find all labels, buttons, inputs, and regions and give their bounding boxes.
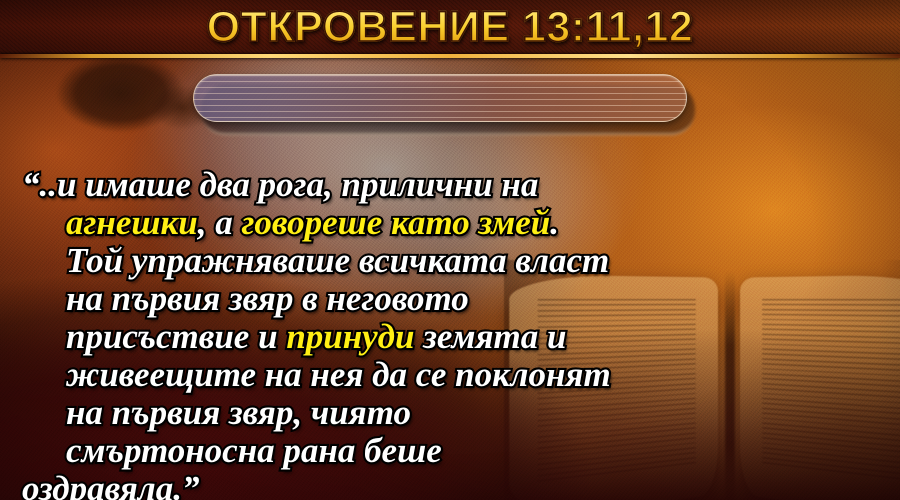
verse-line: смъртоносна рана беше (22, 432, 884, 470)
verse-line: на първия звяр в неговото (22, 280, 884, 318)
decorative-capsule-banner (193, 74, 687, 122)
verse-line: на първия звяр, чиято (22, 394, 884, 432)
verse-text: на първия звяр в неговото (66, 279, 469, 318)
verse-line: живеещите на нея да се поклонят (22, 356, 884, 394)
verse-text: на първия звяр, чиято (66, 393, 411, 432)
verse-highlight-text: принуди (286, 317, 414, 356)
verse-text: оздравяла.” (22, 469, 200, 500)
verse-line: агнешки, а говореше като змей. (22, 204, 884, 242)
title-divider-rule (0, 54, 900, 58)
verse-text: земята и (414, 317, 566, 356)
verse-line: присъствие и принуди земята и (22, 318, 884, 356)
verse-text: присъствие и (66, 317, 286, 356)
verse-text-block: “..и имаше два рога, прилични наагнешки,… (22, 166, 884, 500)
verse-highlight-text: говореше като змей (242, 203, 551, 242)
title-band: ОТКРОВЕНИЕ 13:11,12 (0, 0, 900, 56)
verse-text: смъртоносна рана беше (66, 431, 442, 470)
verse-highlight-text: агнешки (66, 203, 198, 242)
verse-line: “..и имаше два рога, прилични на (22, 166, 884, 204)
verse-text: , а (198, 203, 242, 242)
verse-text: . (550, 203, 559, 242)
verse-text: Той упражняваше всичката власт (66, 241, 609, 280)
presentation-slide: ОТКРОВЕНИЕ 13:11,12 “..и имаше два рога,… (0, 0, 900, 500)
verse-text: живеещите на нея да се поклонят (66, 355, 611, 394)
verse-line: оздравяла.” (22, 470, 884, 500)
slide-title: ОТКРОВЕНИЕ 13:11,12 (0, 0, 900, 54)
verse-line: Той упражняваше всичката власт (22, 242, 884, 280)
verse-text: “..и имаше два рога, прилични на (22, 165, 538, 204)
capsule-banner-body (193, 74, 687, 122)
